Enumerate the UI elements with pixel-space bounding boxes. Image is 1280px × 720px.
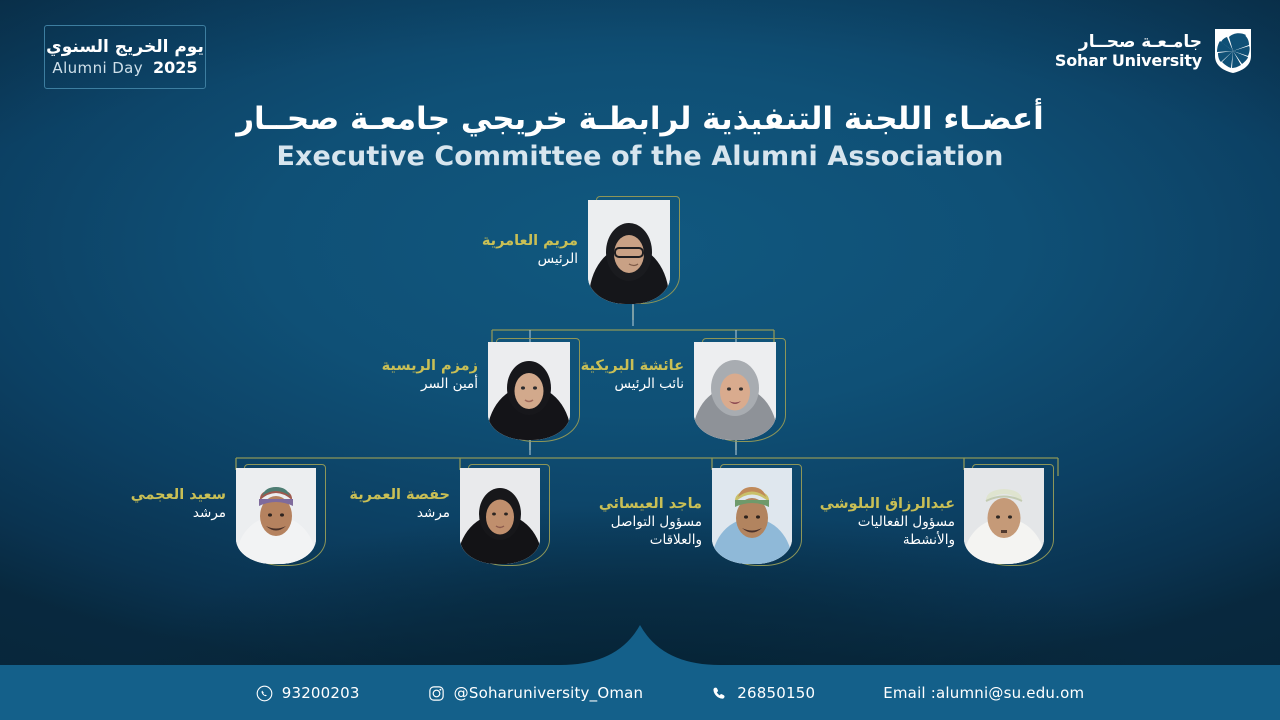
person-name: حفصة العمرية [290,486,450,505]
person-name: مريم العامرية [418,232,578,251]
person-label: حفصة العمرية مرشد [290,486,450,523]
person-name: زمزم الريسية [318,357,478,376]
person-role-line2: والعلاقات [542,532,702,550]
person-label: ماجد العيسائي مسؤول التواصل والعلاقات [542,495,702,550]
person-role: أمين السر [318,376,478,394]
person-label: مريم العامرية الرئيس [418,232,578,269]
person-label: زمزم الريسية أمين السر [318,357,478,394]
person-name: عائشة البريكية [524,357,684,376]
footer-contact-bar: 93200203 @Soharuniversity_Oman 26850150 … [0,666,1280,720]
footer-phone[interactable]: 26850150 [711,684,815,702]
person-name: سعيد العجمي [66,486,226,505]
avatar-photo [712,468,792,564]
person-label: سعيد العجمي مرشد [66,486,226,523]
email-address: Email :alumni@su.edu.om [883,684,1084,702]
person-label: عبدالرزاق البلوشي مسؤول الفعاليات والأنش… [790,495,955,550]
footer-email[interactable]: Email :alumni@su.edu.om [883,684,1084,702]
person-role: نائب الرئيس [524,376,684,394]
person-role: الرئيس [418,251,578,269]
avatar-photo [964,468,1044,564]
person-label: عائشة البريكية نائب الرئيس [524,357,684,394]
instagram-icon [428,685,445,702]
person-role-line2: والأنشطة [790,532,955,550]
avatar-photo [588,200,670,304]
person-role-line1: مسؤول الفعاليات [790,514,955,532]
footer-instagram[interactable]: @Soharuniversity_Oman [428,684,644,702]
person-name: عبدالرزاق البلوشي [790,495,955,514]
phone-number: 26850150 [737,684,815,702]
footer-whatsapp[interactable]: 93200203 [256,684,360,702]
person-role: مرشد [66,505,226,523]
person-name: ماجد العيسائي [542,495,702,514]
avatar-photo [460,468,540,564]
whatsapp-icon [256,685,273,702]
avatar-photo [694,342,776,440]
instagram-handle: @Soharuniversity_Oman [454,684,644,702]
poster-canvas: يوم الخريج السنوي Alumni Day 2025 جامـعـ… [0,0,1280,720]
whatsapp-number: 93200203 [282,684,360,702]
phone-icon [711,685,728,702]
person-role-line1: مسؤول التواصل [542,514,702,532]
person-role: مرشد [290,505,450,523]
